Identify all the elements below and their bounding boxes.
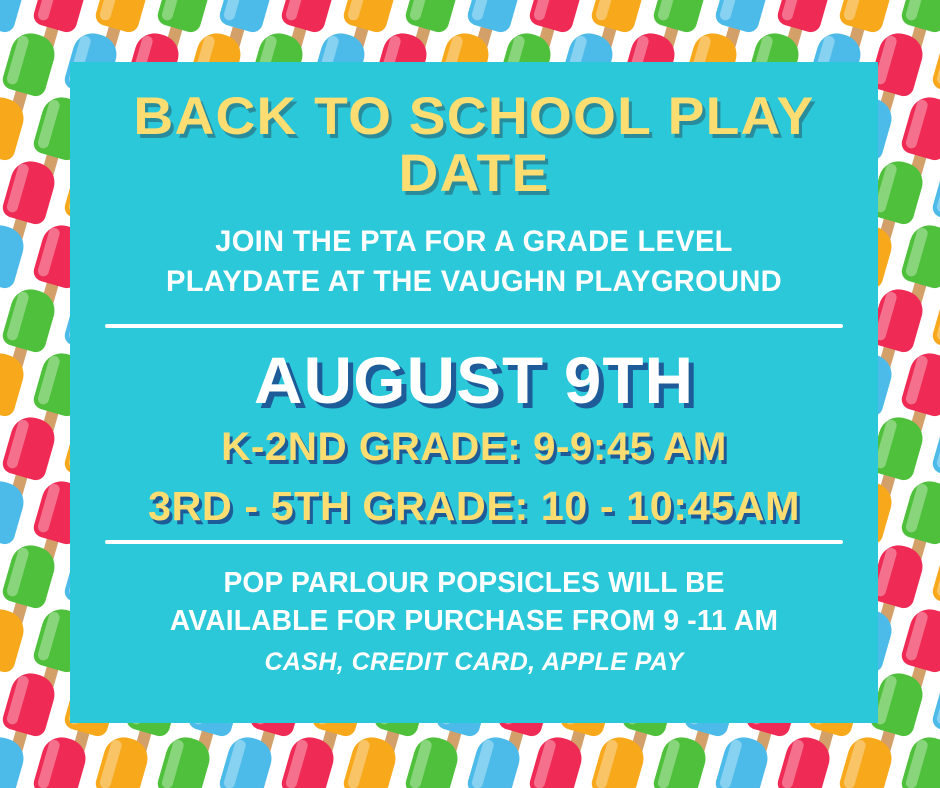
popsicle-highlight [905,0,929,22]
popsicle-info-block: POP PARLOUR POPSICLES WILL BE AVAILABLE … [82,544,866,641]
popsicle-body [0,605,28,675]
popsicle-highlight [657,0,681,22]
popsicle-highlight [595,0,619,22]
popsicle-body [0,221,28,291]
subtitle-line-2: PLAYDATE AT THE VAUGHN PLAYGROUND [166,265,782,298]
popsicle-body [0,477,28,547]
popsicle-info-line-1: POP PARLOUR POPSICLES WILL BE [223,567,724,599]
subtitle-line-1: JOIN THE PTA FOR A GRADE LEVEL [215,225,732,258]
popsicle-highlight [223,0,247,22]
event-date: AUGUST 9TH [62,328,886,415]
popsicle-info-line-2: AVAILABLE FOR PURCHASE FROM 9 -11 AM [170,605,778,637]
popsicle-highlight [285,0,309,22]
payment-methods: CASH, CREDIT CARD, APPLE PAY [70,640,878,677]
popsicle-body [0,0,28,34]
popsicle-body [0,93,28,163]
popsicle-highlight [347,0,371,22]
popsicle-highlight [781,0,805,22]
event-panel: BACK TO SCHOOL PLAY DATE JOIN THE PTA FO… [70,62,878,723]
popsicle-highlight [409,0,433,22]
subtitle-block: JOIN THE PTA FOR A GRADE LEVEL PLAYDATE … [82,202,866,301]
popsicle-highlight [99,0,123,22]
page-title: BACK TO SCHOOL PLAY DATE [54,62,894,202]
popsicle-highlight [37,0,61,22]
popsicle-highlight [533,0,557,22]
grade-schedule-3to5: 3RD - 5TH GRADE: 10 - 10:45AM [66,470,882,530]
popsicle-body [0,349,28,419]
popsicle-highlight [471,0,495,22]
poster-canvas: BACK TO SCHOOL PLAY DATE JOIN THE PTA FO… [0,0,940,788]
popsicle-highlight [843,0,867,22]
grade-schedule-k2: K-2ND GRADE: 9-9:45 AM [66,415,882,470]
popsicle-highlight [719,0,743,22]
popsicle-highlight [161,0,185,22]
